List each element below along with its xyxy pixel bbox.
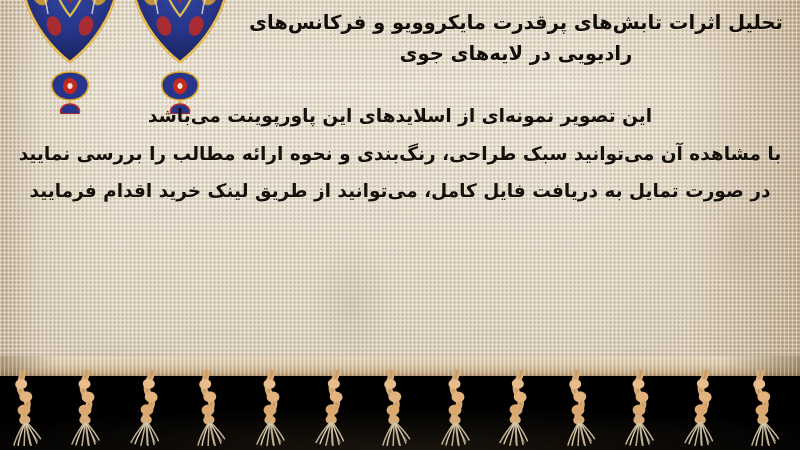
slide-title: تحلیل اثرات تابش‌های پرقدرت مایکروویو و … xyxy=(0,8,800,70)
slide-body: این تصویر نمونه‌ای از اسلایدهای این پاور… xyxy=(0,108,800,202)
fringe-tassel xyxy=(373,370,417,446)
body-line-2: با مشاهده آن می‌توانید سبک طراحی، رنگ‌بن… xyxy=(16,146,784,165)
fringe-tassel xyxy=(4,370,48,446)
fringe-tassel xyxy=(496,370,540,446)
carpet-fringe-band xyxy=(0,356,800,450)
fringe-tassel xyxy=(65,370,109,446)
presentation-slide: تحلیل اثرات تابش‌های پرقدرت مایکروویو و … xyxy=(0,0,800,450)
fringe-tassel xyxy=(127,370,171,446)
fringe-tassel xyxy=(558,370,602,446)
slide-title-line-2: رادیویی در لایه‌های جوی xyxy=(232,39,800,70)
fringe-tassel xyxy=(188,370,232,446)
slide-title-line-1: تحلیل اثرات تابش‌های پرقدرت مایکروویو و … xyxy=(232,8,800,39)
body-line-3: در صورت تمایل به دریافت فایل کامل، می‌تو… xyxy=(16,183,784,202)
fringe-tassel xyxy=(312,370,356,446)
fringe-tassel xyxy=(250,370,294,446)
fringe-tassel xyxy=(435,370,479,446)
fringe-tassel xyxy=(742,370,786,446)
fringe-tassel xyxy=(681,370,725,446)
fringe-tassel xyxy=(619,370,663,446)
body-line-1: این تصویر نمونه‌ای از اسلایدهای این پاور… xyxy=(16,108,784,127)
